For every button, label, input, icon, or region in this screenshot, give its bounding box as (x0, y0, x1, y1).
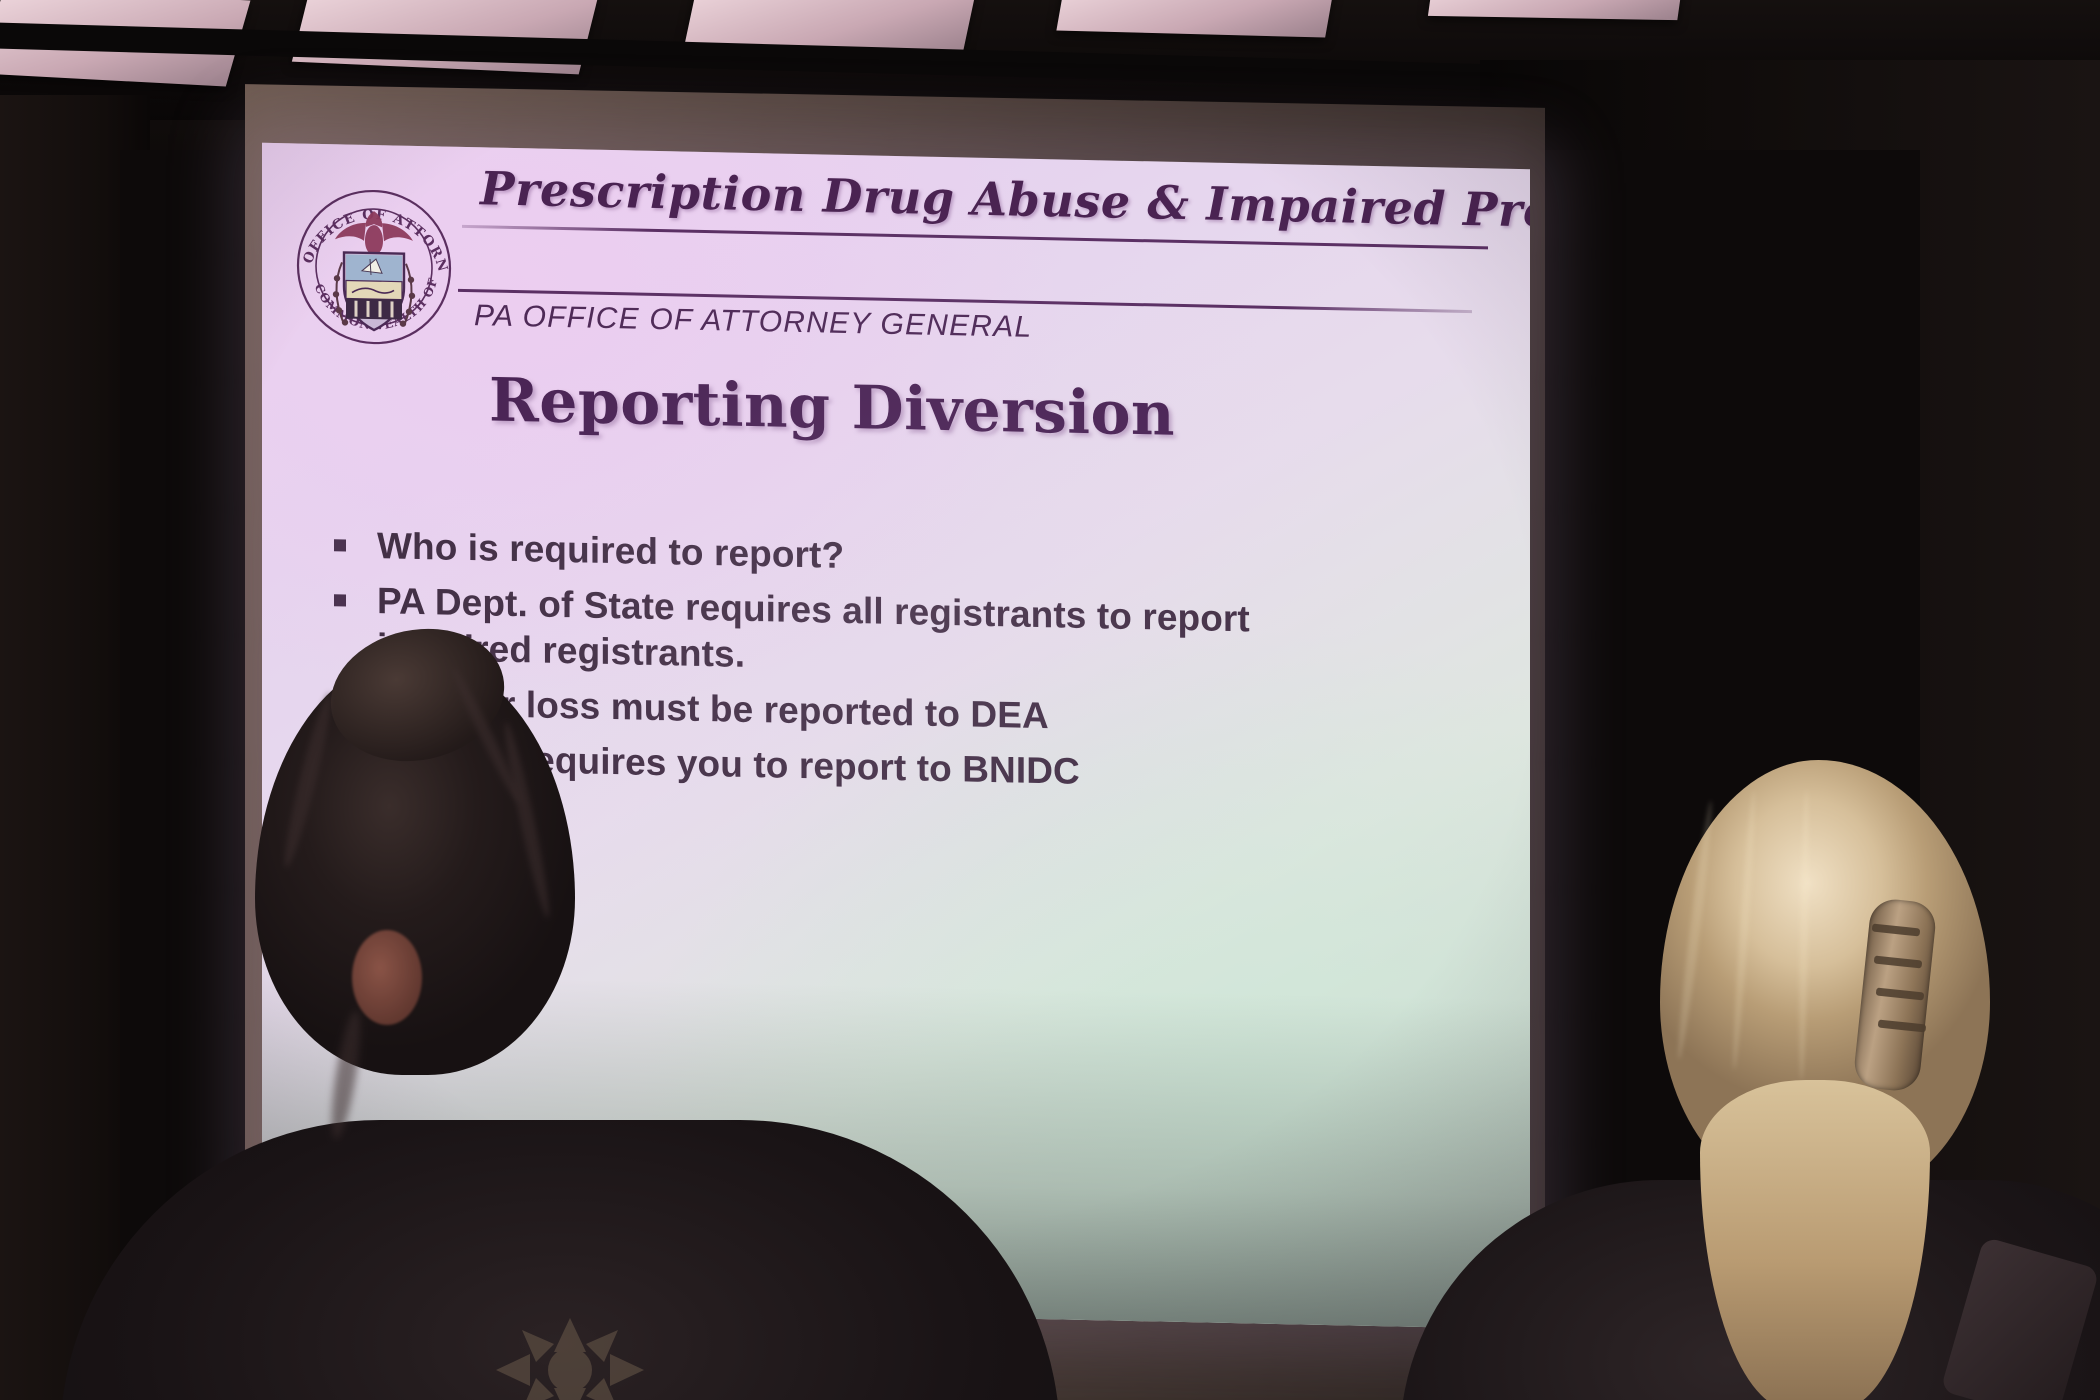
list-item-label: Who is required to report? (377, 523, 844, 579)
right-person-ponytail (1700, 1080, 1930, 1400)
square-bullet-icon (334, 539, 346, 551)
state-seal-icon: OFFICE OF ATTORNEY GENERAL COMMONWEALTH … (292, 165, 457, 358)
deck-title: Prescription Drug Abuse & Impaired Profe… (480, 161, 1490, 236)
square-bullet-icon (334, 594, 346, 606)
list-item-label: PA Dept. of State requires all registran… (377, 578, 1257, 688)
deck-subtitle: PA OFFICE OF ATTORNEY GENERAL (474, 299, 1032, 345)
left-person-shirt-graphic (430, 1300, 710, 1400)
left-person-ear (352, 930, 422, 1025)
slide-heading: Reporting Diversion (262, 361, 1402, 455)
photo-scene: OFFICE OF ATTORNEY GENERAL COMMONWEALTH … (0, 0, 2100, 1400)
